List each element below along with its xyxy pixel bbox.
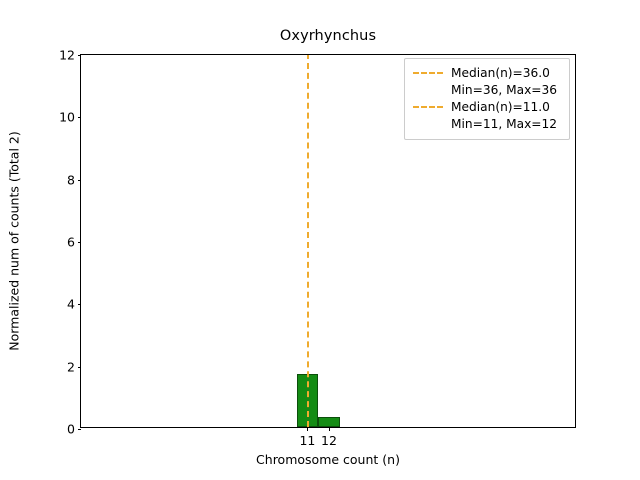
y-tick-label: 8	[67, 172, 75, 187]
chart-title: Oxyrhynchus	[80, 28, 576, 44]
y-tick-label: 2	[67, 359, 75, 374]
y-axis-label-container: Normalized num of counts (Total 2)	[0, 54, 28, 428]
legend-entry: Min=11, Max=12	[413, 116, 561, 132]
x-tick-label: 11	[299, 433, 315, 448]
y-tick-label: 10	[59, 110, 75, 125]
y-tick-label: 4	[67, 297, 75, 312]
legend-spacer	[413, 117, 443, 131]
legend-label: Median(n)=36.0	[451, 65, 550, 81]
y-tick-mark	[78, 117, 82, 118]
y-axis-label: Normalized num of counts (Total 2)	[7, 131, 22, 351]
y-tick-mark	[78, 242, 82, 243]
y-tick-mark	[78, 304, 82, 305]
legend-spacer	[413, 83, 443, 97]
legend-label: Median(n)=11.0	[451, 99, 550, 115]
y-tick-mark	[78, 429, 82, 430]
bar-12	[318, 417, 340, 427]
median-line-11	[307, 55, 309, 427]
y-tick-label: 0	[67, 422, 75, 437]
x-tick-label: 12	[321, 433, 337, 448]
legend-dashed-line-icon	[413, 66, 443, 80]
legend-label: Min=36, Max=36	[451, 82, 557, 98]
x-axis-label: Chromosome count (n)	[80, 452, 576, 467]
y-tick-label: 12	[59, 48, 75, 63]
y-tick-mark	[78, 367, 82, 368]
legend-entry: Min=36, Max=36	[413, 82, 561, 98]
y-tick-mark	[78, 55, 82, 56]
y-tick-mark	[78, 180, 82, 181]
legend: Median(n)=36.0Min=36, Max=36Median(n)=11…	[404, 58, 570, 140]
y-tick-label: 6	[67, 235, 75, 250]
legend-label: Min=11, Max=12	[451, 116, 557, 132]
x-tick-mark	[307, 427, 308, 431]
legend-entry: Median(n)=36.0	[413, 65, 561, 81]
legend-entry: Median(n)=11.0	[413, 99, 561, 115]
x-tick-mark	[329, 427, 330, 431]
legend-dashed-line-icon	[413, 100, 443, 114]
chart-figure: Oxyrhynchus Normalized num of counts (To…	[0, 0, 640, 480]
